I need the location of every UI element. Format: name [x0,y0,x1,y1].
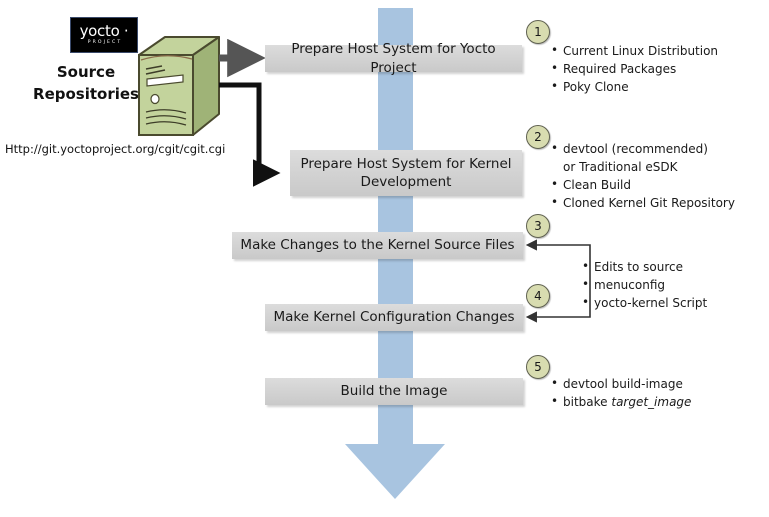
list-item: Cloned Kernel Git Repository [551,194,735,212]
step-box-5[interactable]: Build the Image [265,378,523,405]
list-item: Poky Clone [551,78,718,96]
step-box-2-label: Prepare Host System for Kernel Developme… [296,155,516,191]
step-number-3: 3 [526,214,550,238]
step-5-bullets: devtool build-image bitbake target_image [551,375,691,411]
source-repositories-label: Source Repositories [26,62,146,106]
step-number-1: 1 [526,20,550,44]
step-1-bullets: Current Linux Distribution Required Pack… [551,42,718,96]
list-item: devtool (recommended) or Traditional eSD… [551,140,723,176]
step-box-3[interactable]: Make Changes to the Kernel Source Files [232,232,523,259]
list-item: Current Linux Distribution [551,42,718,60]
list-item: Required Packages [551,60,718,78]
step-box-2[interactable]: Prepare Host System for Kernel Developme… [290,150,522,196]
yocto-logo-wordmark: yocto · [80,24,129,39]
step-number-4: 4 [526,284,550,308]
step5-target-image: target_image [611,395,691,409]
step-number-2: 2 [526,125,550,149]
list-item: Edits to source [582,258,707,276]
arrow-server-to-step2 [219,85,275,173]
yocto-project-logo: yocto · PROJECT [70,17,138,53]
source-repository-url: Http://git.yoctoproject.org/cgit/cgit.cg… [5,142,225,156]
step5-bitbake-prefix: bitbake [563,395,611,409]
source-repositories-label-line1: Source [26,62,146,84]
source-repositories-label-line2: Repositories [26,84,146,106]
diagram-canvas: yocto · PROJECT Source Repositories Http… [0,0,769,517]
yocto-logo-subtext: PROJECT [88,41,123,46]
list-item: menuconfig [582,276,707,294]
flow-arrow-head [345,444,445,499]
list-item: Clean Build [551,176,735,194]
list-item: bitbake target_image [551,393,691,411]
list-item: yocto-kernel Script [582,294,707,312]
step-number-5: 5 [526,355,550,379]
steps-3-4-shared-bullets: Edits to source menuconfig yocto-kernel … [582,258,707,312]
server-icon [136,34,222,138]
step-box-4[interactable]: Make Kernel Configuration Changes [265,304,523,331]
list-item: devtool build-image [551,375,691,393]
step-2-bullets: devtool (recommended) or Traditional eSD… [551,140,735,212]
step-box-1[interactable]: Prepare Host System for Yocto Project [265,45,522,72]
